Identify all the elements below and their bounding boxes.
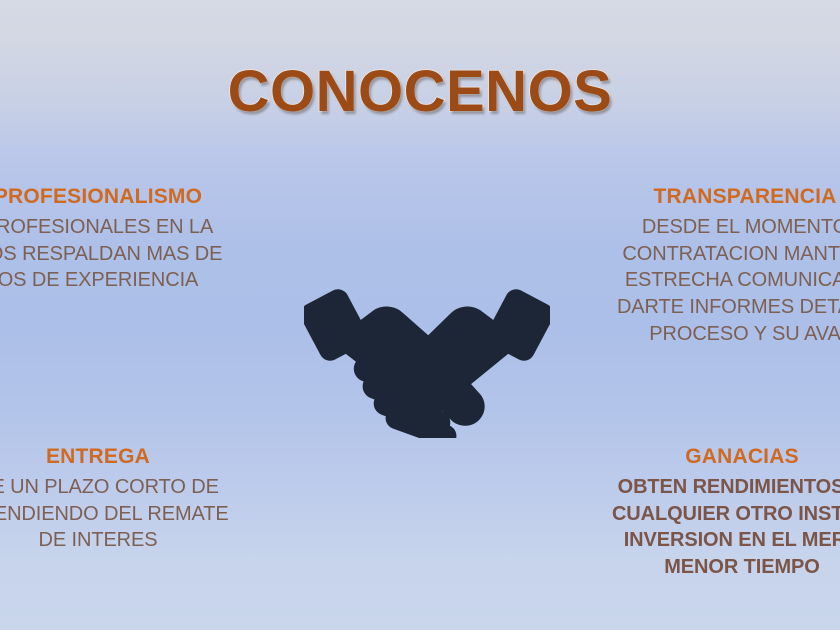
handshake-icon	[304, 282, 550, 438]
body-line: CONTRATACION MANTEN	[580, 241, 840, 268]
body-line: MENOR TIEMPO	[574, 554, 840, 581]
page-title: CONOCENOS	[228, 58, 613, 125]
body-line: OS DE EXPERIENCIA	[0, 267, 258, 294]
body-line: ESTRECHA COMUNICACI	[580, 267, 840, 294]
body-line: DARTE INFORMES DETALL	[580, 294, 840, 321]
text-block-entrega: ENTREGA DE UN PLAZO CORTO DE EPENDIENDO …	[0, 444, 258, 554]
block-body-ganacias: OBTEN RENDIMIENTOS M CUALQUIER OTRO INST…	[574, 474, 840, 580]
body-line: DE UN PLAZO CORTO DE	[0, 474, 258, 501]
text-block-ganacias: GANACIAS OBTEN RENDIMIENTOS M CUALQUIER …	[574, 444, 840, 581]
body-line: EPENDIENDO DEL REMATE	[0, 501, 258, 528]
title-container: CONOCENOS	[0, 58, 840, 125]
body-line: INVERSION EN EL MERC	[574, 527, 840, 554]
body-line: CUALQUIER OTRO INSTRU	[574, 501, 840, 528]
body-line: PROFESIONALES EN LA	[0, 214, 258, 241]
block-body-transparencia: DESDE EL MOMENTO CONTRATACION MANTEN EST…	[580, 214, 840, 347]
body-line: PROCESO Y SU AVA	[580, 321, 840, 348]
text-block-transparencia: TRANSPARENCIA DESDE EL MOMENTO CONTRATAC…	[580, 184, 840, 347]
block-body-entrega: DE UN PLAZO CORTO DE EPENDIENDO DEL REMA…	[0, 474, 258, 554]
block-heading-ganacias: GANACIAS	[574, 444, 840, 470]
body-line: DESDE EL MOMENTO	[580, 214, 840, 241]
slide-canvas: CONOCENOS PROFESIONALISMO PROFESIONALES …	[0, 0, 840, 630]
block-heading-entrega: ENTREGA	[0, 444, 258, 470]
text-block-profesionalismo: PROFESIONALISMO PROFESIONALES EN LA NOS …	[0, 184, 258, 294]
body-line: NOS RESPALDAN MAS DE	[0, 241, 258, 268]
block-body-profesionalismo: PROFESIONALES EN LA NOS RESPALDAN MAS DE…	[0, 214, 258, 294]
body-line: OBTEN RENDIMIENTOS M	[574, 474, 840, 501]
body-line: DE INTERES	[0, 527, 258, 554]
block-heading-profesionalismo: PROFESIONALISMO	[0, 184, 258, 210]
block-heading-transparencia: TRANSPARENCIA	[580, 184, 840, 210]
